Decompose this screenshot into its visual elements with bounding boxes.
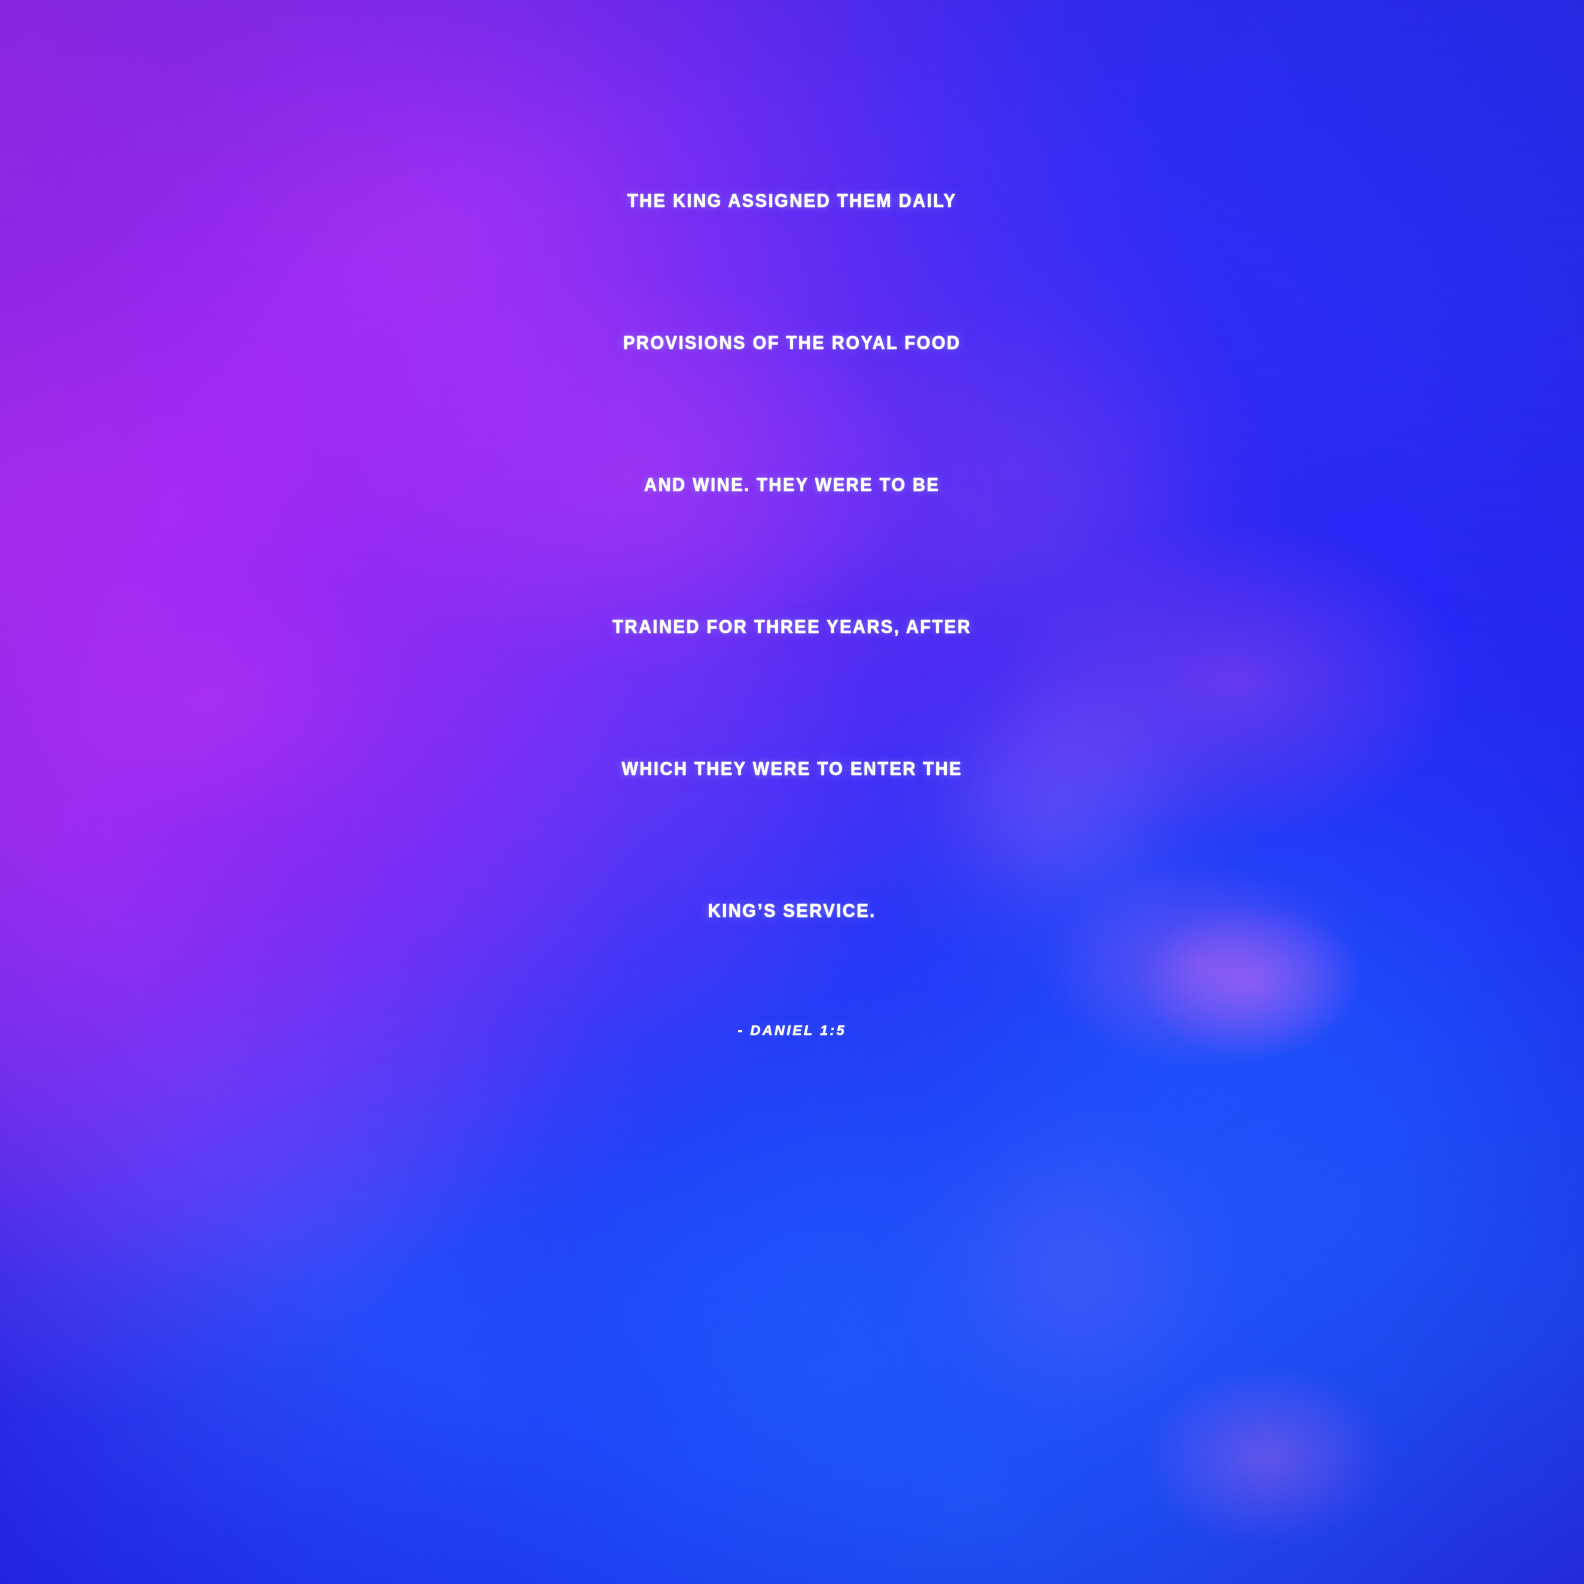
verse-image-canvas: THE KING ASSIGNED THEM DAILY PROVISIONS … <box>0 0 1584 1584</box>
verse-line: WHICH THEY WERE TO ENTER THE <box>101 698 1482 840</box>
verse-line: TRAINED FOR THREE YEARS, AFTER <box>101 556 1482 698</box>
verse-line: AND WINE. THEY WERE TO BE <box>101 414 1482 556</box>
verse-text-block: THE KING ASSIGNED THEM DAILY PROVISIONS … <box>0 130 1584 982</box>
verse-line: KING’S SERVICE. <box>101 840 1482 982</box>
verse-line: PROVISIONS OF THE ROYAL FOOD <box>101 272 1482 414</box>
verse-attribution: - DANIEL 1:5 <box>0 1022 1584 1038</box>
verse-line: THE KING ASSIGNED THEM DAILY <box>101 130 1482 272</box>
